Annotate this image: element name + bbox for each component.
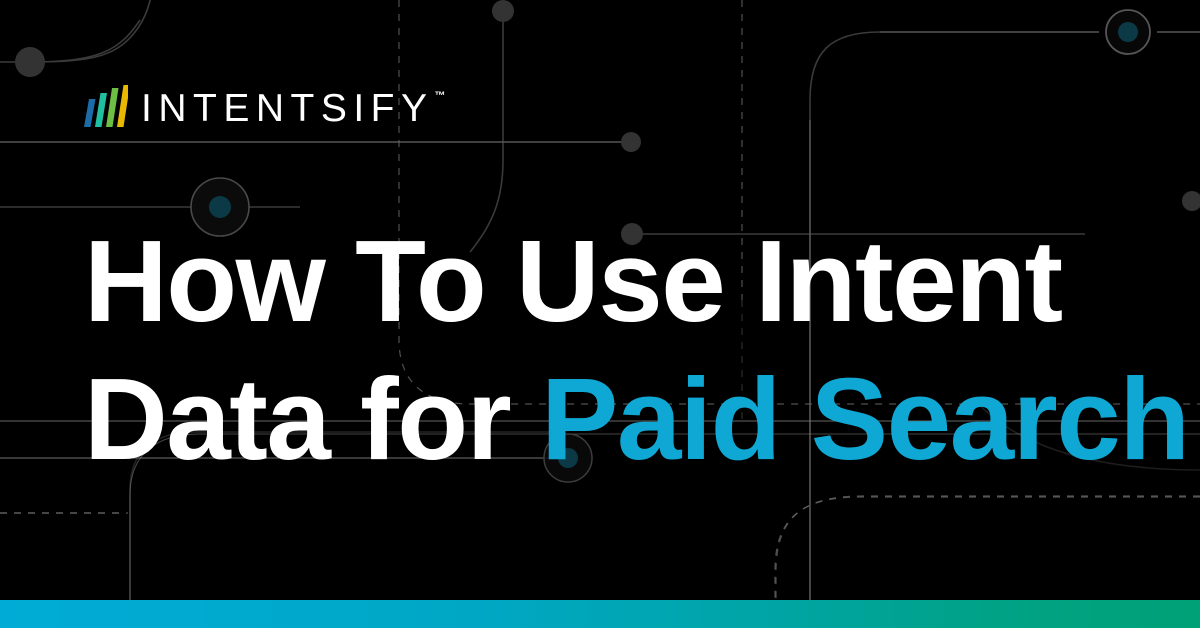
logo-bar-1 — [84, 99, 96, 127]
logo-bar-4 — [117, 85, 128, 127]
headline-plain-text: Data for — [84, 354, 541, 484]
headline-line-1: How To Use Intent — [84, 212, 1084, 350]
circuit-dot — [15, 47, 45, 77]
intentsify-wordmark: INTENTSIFY ™ — [141, 89, 446, 128]
social-share-banner: INTENTSIFY ™ How To Use Intent Data for … — [0, 0, 1200, 628]
intentsify-bars-logo-icon — [82, 85, 128, 127]
trademark-symbol: ™ — [435, 91, 446, 102]
bottom-gradient-bar — [0, 600, 1200, 628]
logo-bar-2 — [95, 93, 107, 127]
page-title: How To Use Intent Data for Paid Search — [84, 212, 1084, 488]
intentsify-logo[interactable]: INTENTSIFY ™ — [82, 84, 446, 128]
headline-line-2: Data for Paid Search — [84, 350, 1084, 488]
ring-node — [1106, 10, 1150, 54]
circuit-dot — [1182, 191, 1200, 211]
headline-accent-text: Paid Search — [541, 354, 1189, 484]
circuit-dot — [621, 132, 641, 152]
circuit-dot — [492, 0, 514, 22]
logo-bar-3 — [106, 88, 119, 127]
brand-name: INTENTSIFY — [141, 89, 434, 128]
